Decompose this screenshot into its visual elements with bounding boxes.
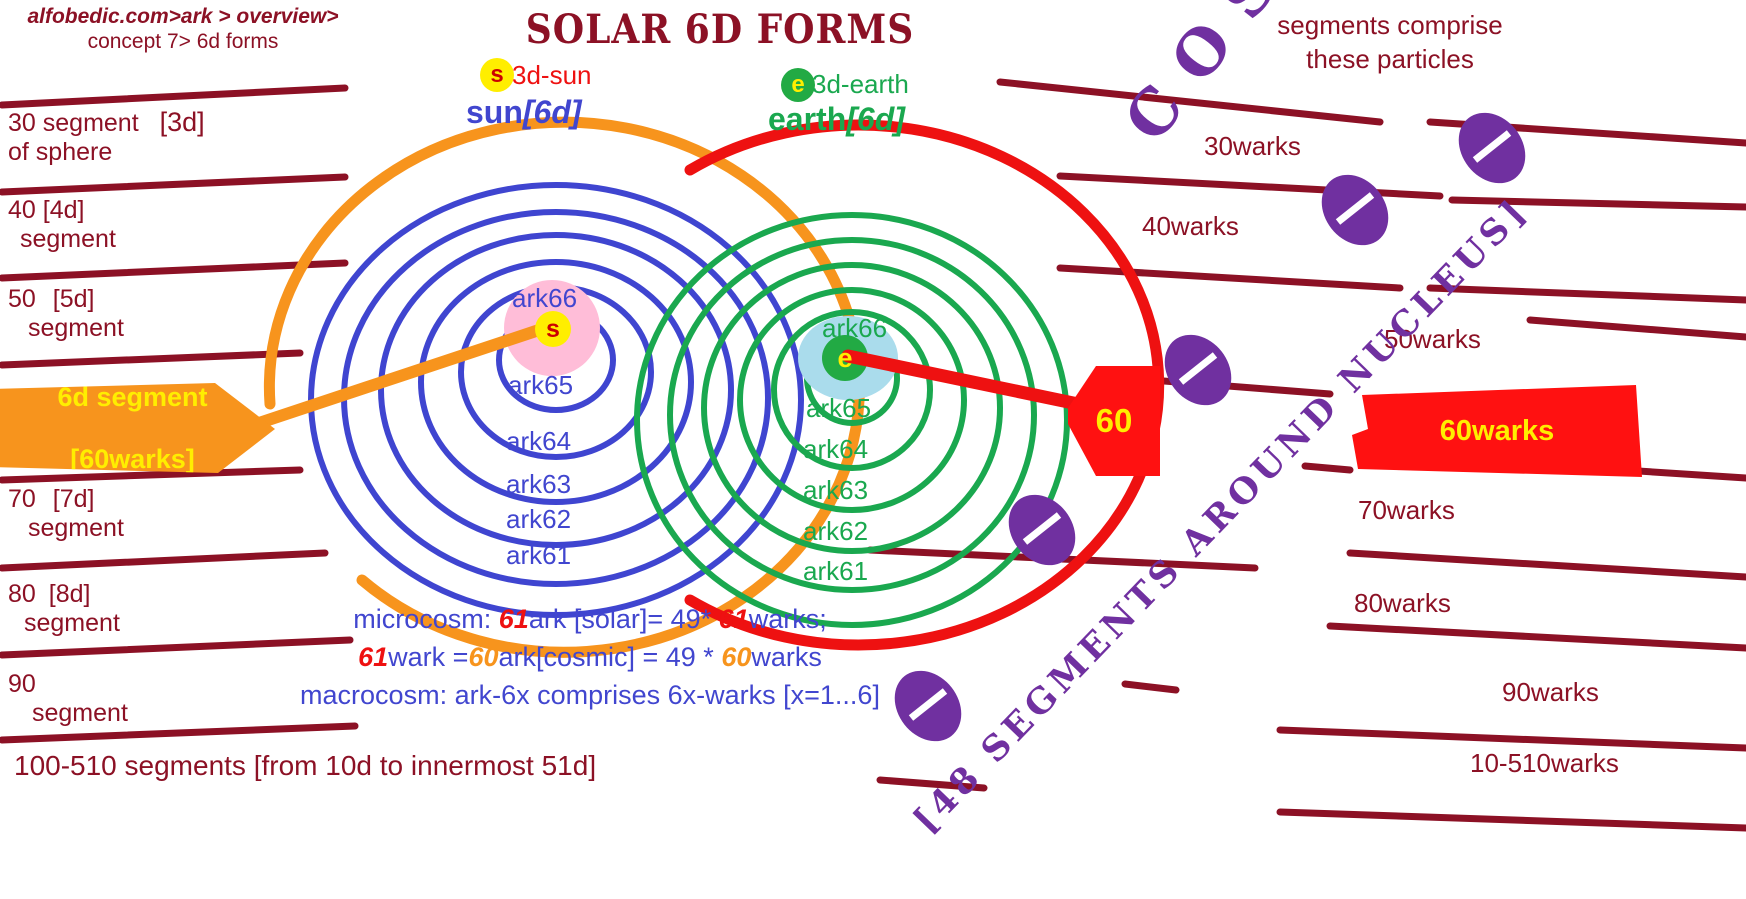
- breadcrumb-line-2: concept 7> 6d forms: [8, 29, 358, 54]
- formula-block: microcosm: 61ark [solar]= 49* 61warks; 6…: [200, 600, 980, 714]
- earth-orbit-label-ark66: ark66: [822, 313, 887, 344]
- f1-p1: 61: [499, 604, 529, 634]
- sun-main-text: sun: [466, 94, 523, 130]
- sixd-segment-banner[interactable]: 6d segment [60warks]: [0, 383, 275, 473]
- sixd-line-2: [60warks]: [57, 444, 207, 475]
- f2-p1: wark =: [388, 642, 468, 672]
- sun-pointer-line: [253, 328, 545, 425]
- left-ladder-30-dim: [3d]: [160, 108, 205, 137]
- bottom-caption: 100-510 segments [from 10d to innermost …: [14, 750, 596, 782]
- sun-orbit-label-ark65: ark65: [508, 370, 573, 401]
- right-note-line-1: segments comprise: [1240, 8, 1540, 42]
- left-ladder-70-dim: [7d]: [53, 485, 95, 513]
- sun-orbit-label-ark62: ark62: [506, 504, 571, 535]
- sixd-banner-text: 6d segment [60warks]: [57, 382, 207, 475]
- left-ladder-50-dim: [5d]: [53, 285, 95, 313]
- sixty-plate: 60: [1068, 366, 1160, 476]
- sun-orbit-label-ark64: ark64: [506, 426, 571, 457]
- page-title: SOLAR 6D FORMS: [500, 6, 940, 53]
- earth-orbit-label-ark62: ark62: [803, 516, 868, 547]
- left-ladder-50-word: segment: [28, 314, 124, 343]
- earth-main-label: earth[6d]: [768, 101, 905, 138]
- left-ladder-30-word2: of sphere: [8, 138, 205, 167]
- f1-p4: warks;: [749, 604, 827, 634]
- sun-main-dim: [6d]: [523, 94, 582, 130]
- f2-p3: ark[cosmic] = 49 *: [498, 642, 721, 672]
- earth-main-text: earth: [768, 101, 846, 137]
- left-ladder-item-50: 50 [5d] segment: [8, 285, 124, 343]
- left-ladder-30-word: segment: [43, 109, 139, 137]
- sixd-line-1: 6d segment: [57, 382, 207, 413]
- left-ladder-80-dim: [8d]: [49, 580, 91, 608]
- right-note: segments comprise these particles: [1240, 8, 1540, 76]
- left-ladder-40-num: 40: [8, 196, 36, 224]
- earth-pointer-line: [848, 356, 1078, 404]
- f2-p5: warks: [751, 642, 822, 672]
- sun-main-label: sun[6d]: [466, 94, 582, 131]
- sun-nucleus-icon: s: [535, 311, 571, 347]
- left-ladder-40-word: segment: [20, 225, 116, 254]
- sun-orbit-label-ark66: ark66: [512, 283, 577, 314]
- diagram-canvas: alfobedic.com>ark > overview> concept 7>…: [0, 0, 1746, 899]
- breadcrumb: alfobedic.com>ark > overview> concept 7>…: [8, 4, 358, 54]
- earth-badge-icon: e: [781, 68, 815, 102]
- right-ladder-item-10-510warks: 10-510warks: [1470, 748, 1619, 779]
- breadcrumb-line-1: alfobedic.com>ark > overview>: [8, 4, 358, 29]
- right-ladder-item-30warks: 30warks: [1204, 131, 1301, 162]
- left-ladder-item-80: 80 [8d] segment: [8, 580, 120, 638]
- formula-line-2: 61wark =60ark[cosmic] = 49 * 60warks: [200, 638, 980, 676]
- left-ladder-90-num: 90: [8, 670, 36, 698]
- earth-orbit-label-ark63: ark63: [803, 475, 868, 506]
- earth-orbit-label-ark65: ark65: [806, 393, 871, 424]
- left-ladder-40-dim: [4d]: [43, 196, 85, 224]
- formula-line-3: macrocosm: ark-6x comprises 6x-warks [x=…: [200, 676, 980, 714]
- sun-badge-icon: s: [480, 58, 514, 92]
- sun-sub-label: 3d-sun: [512, 60, 592, 91]
- right-ladder-item-70warks: 70warks: [1358, 495, 1455, 526]
- left-ladder-70-word: segment: [28, 514, 124, 543]
- left-ladder-30-num: 30: [8, 109, 36, 137]
- right-ladder-item-40warks: 40warks: [1142, 211, 1239, 242]
- left-ladder-80-word: segment: [24, 609, 120, 638]
- sixty-plate-text: 60: [1096, 402, 1133, 440]
- left-ladder-70-num: 70: [8, 485, 36, 513]
- left-ladder-item-90: 90 segment: [8, 670, 128, 728]
- formula-line-1: microcosm: 61ark [solar]= 49* 61warks;: [200, 600, 980, 638]
- f1-p0: microcosm:: [353, 604, 499, 634]
- f3-p0: macrocosm: ark-6x comprises 6x-warks [x=…: [300, 680, 880, 710]
- sixty-warks-banner[interactable]: 60warks: [1352, 385, 1642, 477]
- right-ladder-item-90warks: 90warks: [1502, 677, 1599, 708]
- left-ladder-90-word: segment: [32, 699, 128, 728]
- left-ladder-item-40: 40 [4d] segment: [8, 196, 116, 254]
- left-ladder-50-num: 50: [8, 285, 36, 313]
- sun-orbit-label-ark63: ark63: [506, 469, 571, 500]
- left-ladder-item-30: 30 segment [3d] of sphere: [8, 108, 205, 167]
- f1-p2: ark [solar]= 49*: [529, 604, 719, 634]
- earth-orbit-label-ark61: ark61: [803, 556, 868, 587]
- right-ladder-item-80warks: 80warks: [1354, 588, 1451, 619]
- left-ladder-80-num: 80: [8, 580, 36, 608]
- sun-orbit-label-ark61: ark61: [506, 540, 571, 571]
- sixty-warks-text: 60warks: [1440, 415, 1555, 448]
- f2-p0: 61: [358, 642, 388, 672]
- right-note-line-2: these particles: [1240, 42, 1540, 76]
- earth-orbit-label-ark64: ark64: [803, 434, 868, 465]
- earth-main-dim: [6d]: [846, 101, 905, 137]
- f2-p4: 60: [721, 642, 751, 672]
- f1-p3: 61: [719, 604, 749, 634]
- left-ladder-item-70: 70 [7d] segment: [8, 485, 124, 543]
- earth-sub-label: 3d-earth: [812, 69, 909, 100]
- f2-p2: 60: [468, 642, 498, 672]
- earth-nucleus-icon: e: [828, 341, 862, 375]
